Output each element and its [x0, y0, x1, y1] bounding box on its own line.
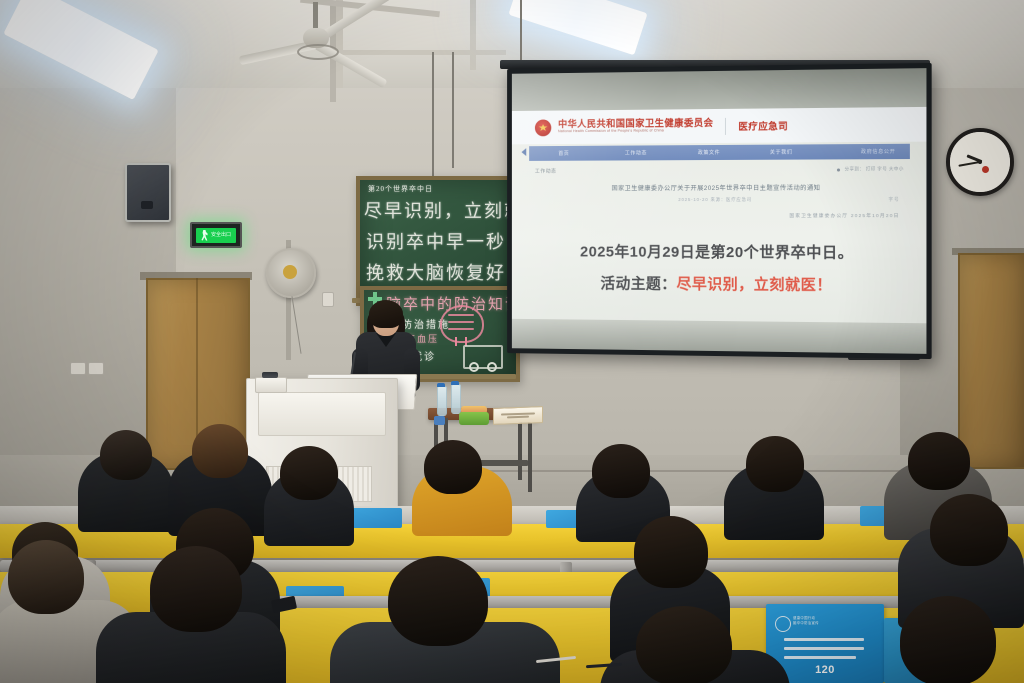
handout-title-line-2: 脑卒中防治宣传: [793, 621, 819, 625]
blue-box[interactable]: [434, 416, 445, 425]
breadcrumb: 工作动态: [535, 168, 557, 175]
water-bottle[interactable]: [437, 386, 447, 416]
ceiling-beam-horizontal: [336, 50, 506, 55]
audience-head: [900, 596, 996, 683]
screen-hanging-wire: [520, 0, 522, 62]
wall-socket: [70, 362, 86, 375]
ceiling-beam: [336, 0, 343, 88]
audience-head: [930, 494, 1008, 566]
slide-top-band: [512, 68, 927, 111]
ceiling-beam-right: [470, 0, 476, 70]
presenter-hair: [369, 300, 403, 328]
classroom-photo: 安全出口 第20个世界卒中日 尽早识别，立刻就医 识别卒中早一秒 挽救大脑恢复好…: [0, 0, 1024, 683]
water-bottle[interactable]: [451, 384, 461, 414]
nav-item-2[interactable]: 政策文件: [673, 149, 745, 156]
share-and-print-bar[interactable]: 分享到： 打印 字号 大中小: [837, 166, 903, 172]
projected-slide: 中华人民共和国国家卫生健康委员会 National Health Commiss…: [512, 68, 927, 354]
ambulance-wheel-icon: [487, 362, 497, 372]
bottle-cap: [437, 383, 445, 387]
nav-item-1[interactable]: 工作动态: [599, 149, 674, 156]
slide-theme-highlight: 尽早识别，立刻就医: [677, 276, 817, 294]
blackboard-left-line-3: 挽救大脑恢复好: [366, 259, 506, 285]
ambulance-wheel-icon: [469, 362, 479, 372]
door-right[interactable]: [958, 253, 1024, 469]
bottle-cap: [451, 381, 459, 385]
audience-head: [634, 516, 708, 588]
audience-head: [388, 556, 488, 646]
slide-theme-suffix: ！: [816, 277, 832, 294]
screen-hanging-wire: [452, 52, 454, 168]
nav-item-gov-info[interactable]: 政府信息公开: [861, 148, 910, 155]
name-card: [493, 406, 543, 425]
slide-bottom-band: [512, 319, 927, 354]
floor-seam: [470, 470, 930, 472]
wall-speaker: [125, 163, 171, 222]
exit-sign: 安全出口: [190, 222, 242, 248]
slide-theme-prefix: 活动主题：: [600, 275, 676, 292]
article-title: 国家卫生健康委办公厅关于开展2025年世界卒中日主题宣传活动的通知: [512, 182, 927, 192]
audience-head: [8, 540, 84, 614]
site-header: 中华人民共和国国家卫生健康委员会 National Health Commiss…: [512, 107, 927, 145]
lectern-front-panel: [258, 392, 386, 436]
exit-sign-graphic: 安全出口: [196, 228, 236, 243]
table-leg: [528, 418, 532, 492]
audience-head: [592, 444, 650, 498]
exit-sign-label: 安全出口: [211, 233, 231, 238]
blackboard-left-header: 第20个世界卒中日: [368, 184, 433, 194]
site-department: 医疗应急司: [738, 118, 788, 132]
nav-item-3[interactable]: 关于我们: [745, 148, 818, 155]
clock-center-pin: [978, 160, 982, 164]
handout-body-line: [784, 656, 856, 659]
nav-item-0[interactable]: 首页: [529, 150, 599, 157]
audience-head: [100, 430, 152, 480]
fruit-plate[interactable]: [459, 412, 489, 425]
audience-head: [280, 446, 338, 500]
ceiling-fan-ring: [297, 44, 339, 60]
header-divider: [725, 117, 726, 134]
article-meta: 2025-10-20 来源：医疗应急司: [512, 197, 927, 203]
handout-body-line: [784, 638, 864, 641]
blackboard-left-line-2: 识别卒中早一秒: [366, 228, 506, 254]
table-leg: [518, 418, 522, 480]
running-person-icon: [201, 230, 209, 241]
wall-mounted-fan: [266, 248, 316, 298]
audience-head: [150, 546, 242, 632]
lectern-control-box[interactable]: [255, 377, 287, 393]
share-dot-icon: [837, 168, 840, 171]
wall-socket: [88, 362, 104, 375]
site-nav: 首页 工作动态 政策文件 关于我们 政府信息公开: [529, 144, 910, 161]
audience-head: [746, 436, 804, 492]
desk-microphone-icon: [262, 372, 278, 378]
nav-scroll-arrow-icon[interactable]: [521, 148, 526, 156]
national-emblem-icon: [535, 119, 551, 136]
site-org-en: National Health Commission of the People…: [558, 129, 713, 134]
slide-headline: 2025年10月29日是第20个世界卒中日。: [512, 240, 927, 263]
projection-screen: 中华人民共和国国家卫生健康委员会 National Health Commiss…: [507, 63, 932, 359]
site-org-block: 中华人民共和国国家卫生健康委员会 National Health Commiss…: [558, 119, 713, 135]
share-print-label: 分享到： 打印 字号 大中小: [845, 166, 904, 172]
handout-org-text: 健康中国行动 脑卒中防治宣传: [793, 616, 819, 626]
wall-socket: [322, 292, 334, 307]
wall-clock: [946, 128, 1014, 196]
handout-body-line: [784, 647, 864, 650]
audience-head: [192, 424, 248, 478]
audience-head: [424, 440, 482, 494]
audience-head: [636, 606, 732, 683]
article-issuing-dept: 国家卫生健康委办公厅 2025年10月20日: [789, 213, 899, 219]
clock-brand-dot: [982, 166, 989, 173]
slide-theme-line: 活动主题：尽早识别，立刻就医！: [512, 272, 927, 296]
handout-logo-icon: [775, 616, 791, 632]
ceiling-fan-rod: [313, 2, 318, 30]
name-card-line: [507, 416, 529, 419]
article-font-size-label[interactable]: 字号: [888, 197, 899, 203]
audience-head: [908, 432, 970, 490]
handout-title-line-1: 健康中国行动: [793, 616, 815, 620]
screen-hanging-wire: [432, 52, 434, 182]
